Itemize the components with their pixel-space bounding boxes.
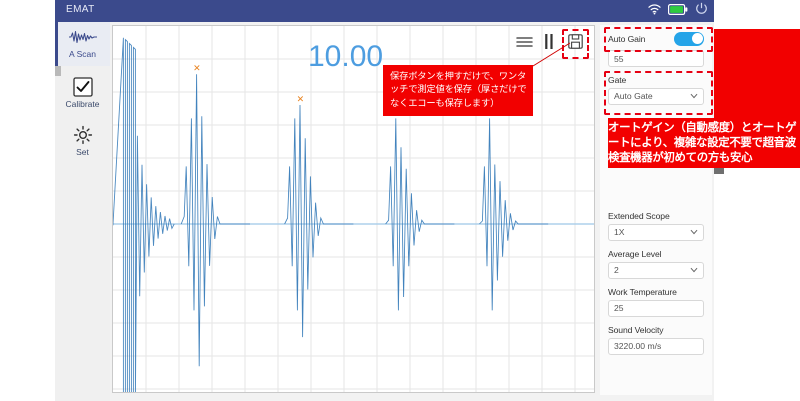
sidebar-item-label: Calibrate: [55, 99, 110, 109]
pause-icon[interactable]: [544, 34, 554, 54]
waveform-trace: [386, 118, 455, 310]
average-level-value: 2: [614, 265, 619, 275]
waveform-trace: [285, 105, 354, 337]
chevron-down-icon: [690, 228, 698, 236]
promo-callout-text: オートゲイン（自動感度）とオートゲートにより、複雑な設定不要で超音波検査機器が初…: [608, 121, 800, 167]
battery-icon: [668, 2, 688, 20]
power-icon[interactable]: [695, 2, 708, 20]
extended-scope-field[interactable]: Extended Scope 1X: [608, 211, 704, 241]
average-level-field[interactable]: Average Level 2: [608, 249, 704, 279]
app-title: EMAT: [66, 4, 95, 15]
average-level-label: Average Level: [608, 249, 704, 259]
echo-peak-marker: ✕: [193, 64, 201, 74]
work-temperature-label: Work Temperature: [608, 287, 704, 297]
save-callout: 保存ボタンを押すだけで、ワンタッチで測定値を保存（厚さだけでなくエコーも保存しま…: [383, 65, 533, 116]
sidebar-item-label: Set: [55, 147, 110, 157]
work-temperature-input[interactable]: 25: [608, 300, 704, 317]
gain-value-input[interactable]: 55: [608, 50, 704, 67]
status-icons: [648, 2, 708, 20]
sound-velocity-label: Sound Velocity: [608, 325, 704, 335]
extended-scope-value: 1X: [614, 227, 625, 237]
promo-tail: [714, 168, 724, 174]
emat-app-window: EMAT: [55, 0, 714, 401]
waveform-trace: [113, 38, 174, 392]
echo-peak-marker: ✕: [297, 95, 305, 105]
gear-icon: [55, 120, 110, 146]
sidebar-item-calibrate[interactable]: Calibrate: [55, 72, 110, 116]
extended-scope-label: Extended Scope: [608, 211, 704, 221]
sound-velocity-field[interactable]: Sound Velocity 3220.00 m/s: [608, 325, 704, 355]
settings-panel: Auto Gain 55 Gate Auto Gate Material Typ…: [600, 25, 712, 395]
waveform-trace: [181, 74, 250, 366]
gate-highlight: [604, 71, 713, 115]
auto-gain-highlight: [604, 27, 713, 52]
sound-velocity-input[interactable]: 3220.00 m/s: [608, 338, 704, 355]
checkbox-icon: [55, 72, 110, 98]
waveform-icon: [55, 22, 110, 48]
sidebar-item-a-scan[interactable]: A Scan: [55, 22, 110, 66]
title-bar: EMAT: [55, 0, 714, 22]
extended-scope-select[interactable]: 1X: [608, 224, 704, 241]
sidebar: A Scan Calibrate: [55, 22, 110, 401]
thickness-reading: 10.00: [308, 40, 383, 74]
gain-value-field[interactable]: 55: [608, 50, 704, 67]
sidebar-item-label: A Scan: [55, 49, 110, 59]
average-level-select[interactable]: 2: [608, 262, 704, 279]
wifi-icon: [648, 2, 661, 20]
work-temperature-field[interactable]: Work Temperature 25: [608, 287, 704, 317]
chevron-down-icon: [690, 266, 698, 274]
chart-toolbar: [516, 32, 586, 56]
sidebar-item-set[interactable]: Set: [55, 120, 110, 164]
hamburger-menu-icon[interactable]: [516, 35, 533, 53]
save-button[interactable]: [565, 32, 586, 56]
waveform-trace: [479, 118, 548, 310]
